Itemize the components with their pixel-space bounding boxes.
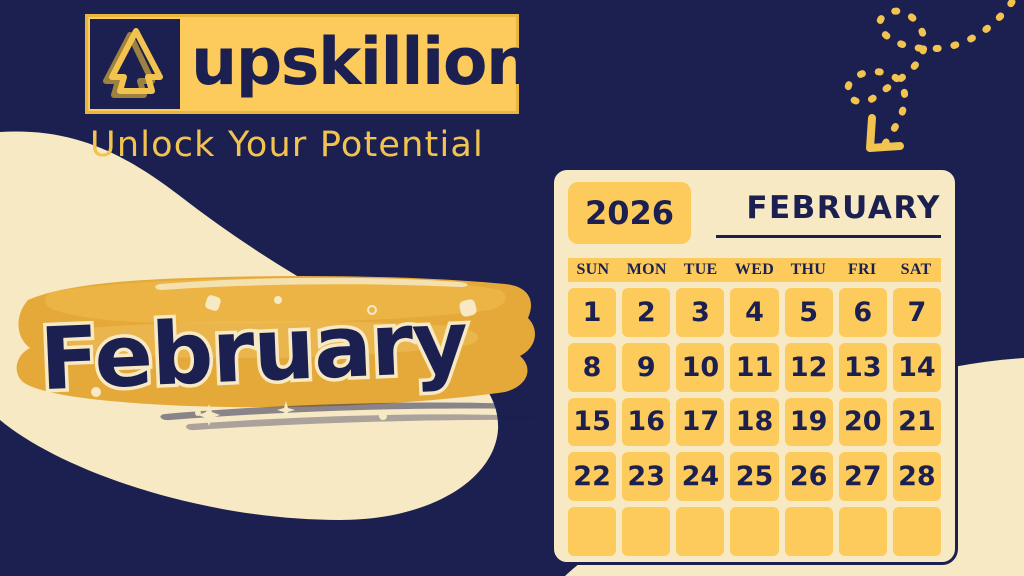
day-cell-16[interactable]: 16 xyxy=(622,398,670,447)
day-cell-empty xyxy=(893,507,941,556)
day-cell-6[interactable]: 6 xyxy=(839,288,887,337)
day-cell-4[interactable]: 4 xyxy=(730,288,778,337)
day-cell-25[interactable]: 25 xyxy=(730,452,778,501)
day-cell-18[interactable]: 18 xyxy=(730,398,778,447)
day-cell-28[interactable]: 28 xyxy=(893,452,941,501)
logo-mark-box xyxy=(90,19,180,109)
day-cell-7[interactable]: 7 xyxy=(893,288,941,337)
day-cell-15[interactable]: 15 xyxy=(568,398,616,447)
day-cell-27[interactable]: 27 xyxy=(839,452,887,501)
day-cell-empty xyxy=(676,507,724,556)
day-cell-8[interactable]: 8 xyxy=(568,343,616,392)
weekday-label-tue: TUE xyxy=(676,261,726,279)
day-cell-19[interactable]: 19 xyxy=(785,398,833,447)
day-cell-12[interactable]: 12 xyxy=(785,343,833,392)
day-cell-14[interactable]: 14 xyxy=(893,343,941,392)
day-cell-1[interactable]: 1 xyxy=(568,288,616,337)
weekday-label-sun: SUN xyxy=(568,261,618,279)
day-cell-empty xyxy=(730,507,778,556)
weekday-header-row: SUNMONTUEWEDTHUFRISAT xyxy=(568,258,941,282)
day-cell-empty xyxy=(839,507,887,556)
day-cell-9[interactable]: 9 xyxy=(622,343,670,392)
curly-dashed-arrow-icon xyxy=(848,2,1012,146)
poster-canvas: upskillion Unlock Your Potential Februar… xyxy=(0,0,1024,576)
day-cell-10[interactable]: 10 xyxy=(676,343,724,392)
calendar-month-label: FEBRUARY xyxy=(746,190,941,226)
month-header: FEBRUARY xyxy=(691,182,941,238)
brand-logo: upskillion xyxy=(85,14,519,114)
day-cell-empty xyxy=(568,507,616,556)
month-title-block: February xyxy=(10,272,550,467)
day-cell-23[interactable]: 23 xyxy=(622,452,670,501)
month-title-text: February xyxy=(38,290,532,410)
day-cell-24[interactable]: 24 xyxy=(676,452,724,501)
month-underline xyxy=(716,235,941,238)
calendar-header: 2026 FEBRUARY xyxy=(568,182,941,254)
day-cell-26[interactable]: 26 xyxy=(785,452,833,501)
day-cell-20[interactable]: 20 xyxy=(839,398,887,447)
brand-tagline: Unlock Your Potential xyxy=(90,125,484,165)
pine-tree-icon xyxy=(90,19,180,109)
day-cell-3[interactable]: 3 xyxy=(676,288,724,337)
weekday-label-fri: FRI xyxy=(837,261,887,279)
day-cell-17[interactable]: 17 xyxy=(676,398,724,447)
day-cell-empty xyxy=(622,507,670,556)
year-badge: 2026 xyxy=(568,182,691,244)
day-cell-22[interactable]: 22 xyxy=(568,452,616,501)
day-cell-13[interactable]: 13 xyxy=(839,343,887,392)
day-cell-empty xyxy=(785,507,833,556)
weekday-label-thu: THU xyxy=(783,261,833,279)
day-cell-21[interactable]: 21 xyxy=(893,398,941,447)
weekday-label-mon: MON xyxy=(622,261,672,279)
weekday-label-wed: WED xyxy=(730,261,780,279)
logo-wordmark: upskillion xyxy=(191,30,531,95)
day-cell-11[interactable]: 11 xyxy=(730,343,778,392)
day-grid: 1234567891011121314151617181920212223242… xyxy=(568,288,941,556)
arrow-head-icon xyxy=(870,118,900,148)
day-cell-5[interactable]: 5 xyxy=(785,288,833,337)
calendar-card: 2026 FEBRUARY SUNMONTUEWEDTHUFRISAT 1234… xyxy=(551,167,958,565)
weekday-label-sat: SAT xyxy=(891,261,941,279)
day-cell-2[interactable]: 2 xyxy=(622,288,670,337)
